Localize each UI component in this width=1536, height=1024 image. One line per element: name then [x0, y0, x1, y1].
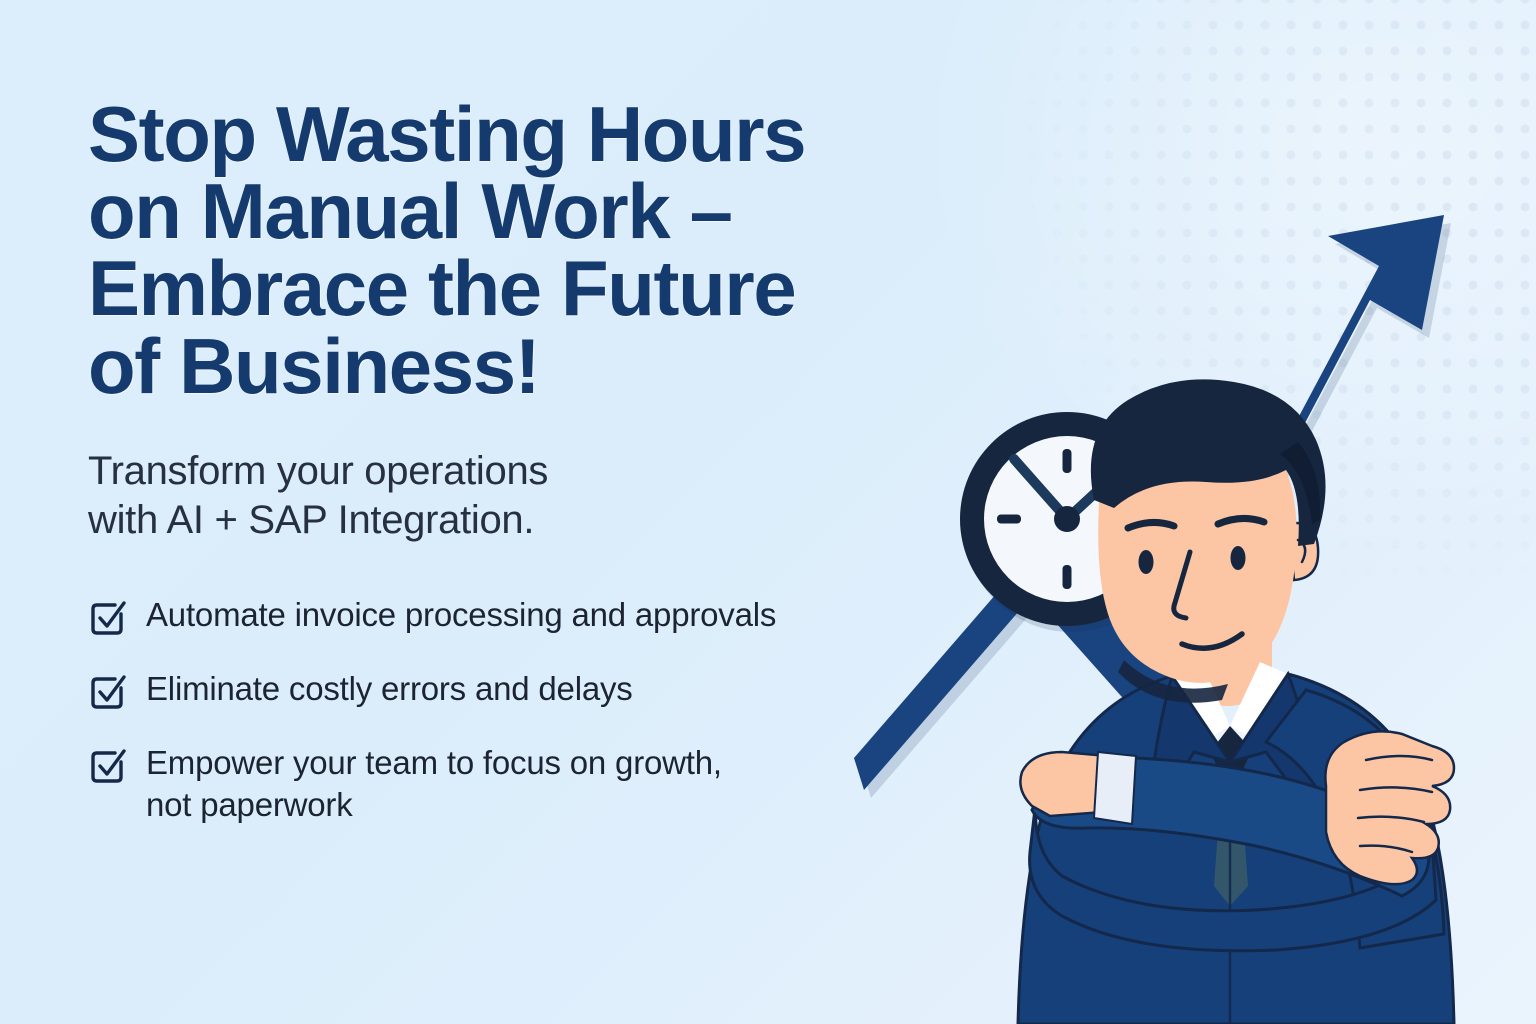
list-item: Empower your team to focus on growth, no… [88, 742, 988, 826]
checkbox-checked-icon [88, 598, 128, 638]
marketing-banner: Stop Wasting Hours on Manual Work – Embr… [0, 0, 1536, 1024]
list-item: Eliminate costly errors and delays [88, 668, 988, 712]
clock-center-pin [1054, 506, 1080, 532]
benefits-list: Automate invoice processing and approval… [88, 594, 988, 826]
checkbox-checked-icon [88, 672, 128, 712]
list-item-label: Automate invoice processing and approval… [146, 594, 776, 636]
clock-tick-6 [1063, 565, 1072, 589]
subheadline: Transform your operations with AI + SAP … [88, 447, 988, 546]
clock-tick-9 [997, 515, 1021, 524]
page-title: Stop Wasting Hours on Manual Work – Embr… [88, 96, 988, 405]
text-content: Stop Wasting Hours on Manual Work – Embr… [88, 96, 988, 843]
list-item-label: Empower your team to focus on growth, no… [146, 742, 722, 826]
eye-left [1139, 550, 1154, 574]
checkbox-checked-icon [88, 746, 128, 786]
list-item: Automate invoice processing and approval… [88, 594, 988, 638]
eye-right [1231, 546, 1246, 570]
list-item-label: Eliminate costly errors and delays [146, 668, 633, 710]
clock-tick-12 [1063, 449, 1072, 473]
